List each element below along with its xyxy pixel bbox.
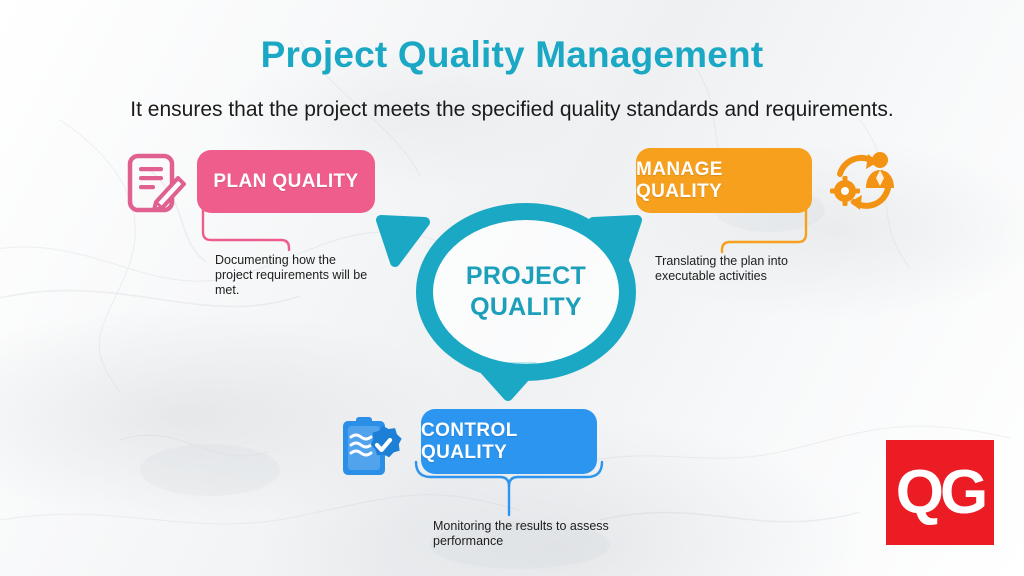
page-title: Project Quality Management (0, 34, 1024, 76)
plan-quality-node[interactable]: PLAN QUALITY (197, 150, 375, 213)
plan-quality-caption: Documenting how the project requirements… (215, 253, 375, 298)
plan-quality-label: PLAN QUALITY (213, 171, 358, 193)
slide-canvas: Project Quality Management It ensures th… (0, 0, 1024, 576)
clipboard-check-icon (337, 417, 409, 479)
center-label-line2: QUALITY (466, 292, 586, 323)
control-quality-caption: Monitoring the results to assess perform… (433, 519, 623, 549)
control-quality-node[interactable]: CONTROL QUALITY (421, 409, 597, 474)
document-pencil-icon (126, 152, 188, 222)
manage-quality-caption: Translating the plan into executable act… (655, 254, 815, 284)
center-label-line1: PROJECT (466, 261, 586, 292)
manage-quality-node[interactable]: MANAGE QUALITY (636, 148, 812, 213)
qg-logo: QG (886, 440, 994, 545)
center-label: PROJECT QUALITY (466, 261, 586, 323)
project-quality-center: PROJECT QUALITY (416, 203, 636, 381)
qg-logo-text: QG (896, 462, 984, 524)
control-quality-label: CONTROL QUALITY (421, 420, 597, 464)
gear-person-cycle-icon (828, 148, 900, 216)
page-subtitle: It ensures that the project meets the sp… (0, 98, 1024, 122)
manage-quality-label: MANAGE QUALITY (636, 159, 812, 203)
